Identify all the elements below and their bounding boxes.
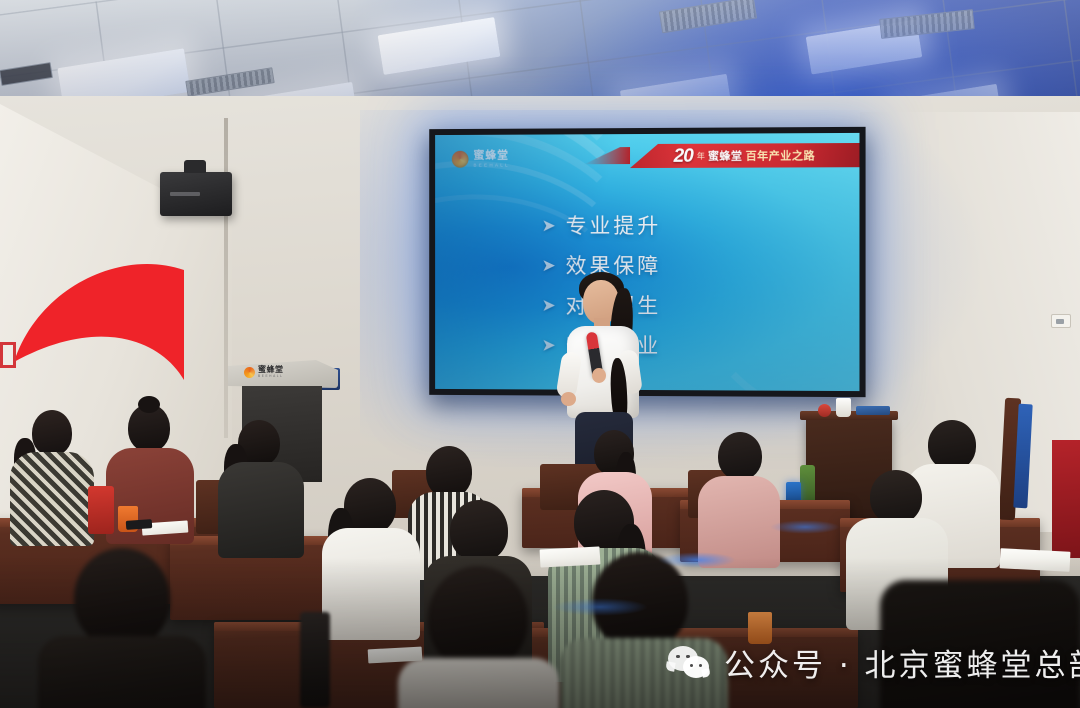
watermark-text: 公众号 · 北京蜜蜂堂总部 [724,640,1080,685]
desk-phone[interactable] [126,519,153,530]
photo-scene: 蜜蜂堂 BEEHALL 20 年 蜜蜂堂 百年产业之路 ➤ 专业提升 ➤ [0,0,1080,708]
person-torso [38,636,206,708]
audience-person [10,410,96,540]
person-torso [398,658,560,708]
lectern-logo-en: BEEHALL [258,375,284,378]
open-notebook [540,546,601,567]
person-head [428,566,528,670]
desk-blue-glow [658,552,736,568]
person-head [718,432,762,480]
wall-switch-icon [1051,314,1071,328]
audience-person [698,432,782,558]
person-head [426,446,472,498]
desk-paper [1000,548,1071,572]
presenter-hand-right [592,368,606,383]
person-torso [10,452,94,546]
lectern-logo-cn: 蜜蜂堂 [258,366,284,374]
wall-mounted-projector-icon [160,172,232,216]
foreground-person [388,566,568,708]
person-head [928,420,976,470]
wechat-eye [690,664,693,667]
watermark: 公众号 · 北京蜜蜂堂总部 [668,640,1080,685]
person-head [870,470,922,524]
foreground-person [880,560,1080,708]
lectern-brand-logo: 蜜蜂堂 BEEHALL [244,366,284,378]
person-torso [218,462,304,558]
wechat-eye [676,655,680,659]
green-bottle [800,465,815,503]
audience-person [216,420,306,548]
person-hair-bun [138,396,160,413]
desk-paper [368,647,423,664]
snack-container [88,486,114,534]
desk-blue-glow [770,520,840,534]
presenter-hand-left [561,392,576,406]
beehall-mark-icon [244,367,255,378]
desk-blue-glow [552,598,648,616]
person-head [74,548,170,648]
wechat-icon [668,646,712,680]
table-papers [856,406,890,415]
person-head [450,500,508,562]
foreground-tripod [300,612,330,708]
wechat-eye [699,664,702,667]
person-head [32,410,72,456]
foreground-person [38,548,208,708]
wechat-bubble-small [683,656,709,678]
red-cup [818,404,831,417]
paper-cup [836,398,851,417]
wall-plate-icon [0,342,16,368]
red-floor-sign [1052,440,1080,558]
